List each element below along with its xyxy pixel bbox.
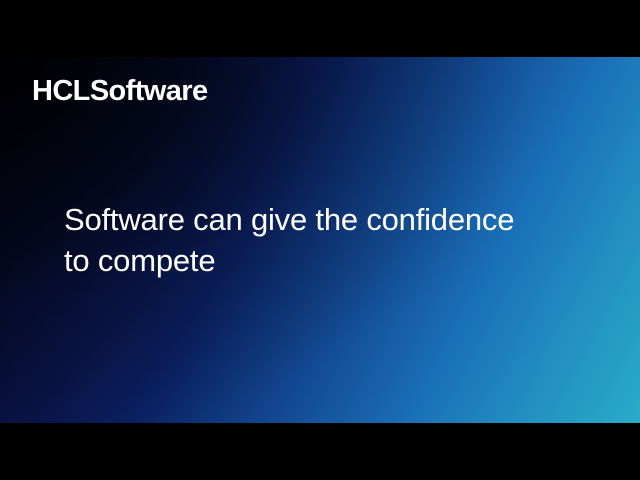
slide-content-area: HCLSoftware Software can give the confid… xyxy=(0,57,640,423)
headline-line-2: to compete xyxy=(64,240,594,281)
headline: Software can give the confidence to comp… xyxy=(64,199,594,281)
logo-text-software: Software xyxy=(90,75,208,107)
letterbox-bar-top xyxy=(0,0,640,57)
letterbox-bar-bottom xyxy=(0,423,640,480)
logo-text-hcl: HCL xyxy=(32,75,90,107)
headline-line-1: Software can give the confidence xyxy=(64,199,594,240)
video-frame: HCLSoftware Software can give the confid… xyxy=(0,0,640,480)
hcl-software-logo: HCLSoftware xyxy=(32,77,207,106)
